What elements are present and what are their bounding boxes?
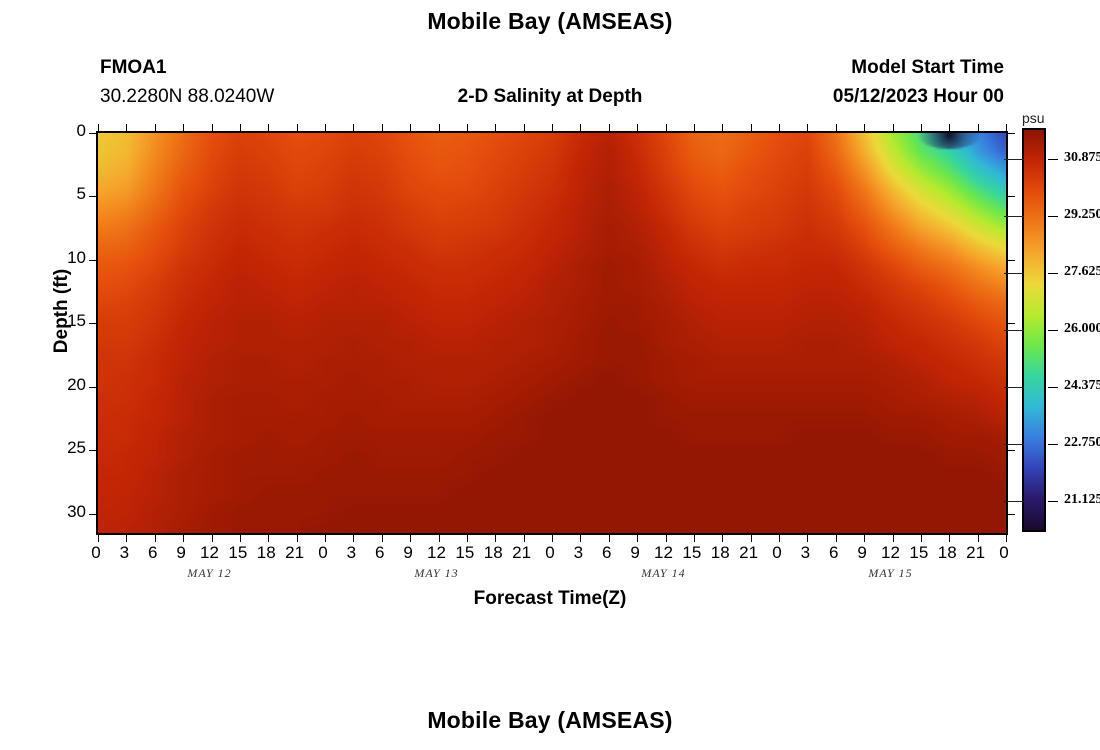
y-tick-mark bbox=[1008, 260, 1015, 261]
y-tick-mark bbox=[89, 387, 96, 388]
y-tick-mark bbox=[89, 323, 96, 324]
model-start-time-value: 05/12/2023 Hour 00 bbox=[833, 86, 1004, 108]
colorbar-tick-inner bbox=[1004, 501, 1024, 502]
x-tick-mark bbox=[694, 535, 695, 542]
page-title: Mobile Bay (AMSEAS) bbox=[0, 8, 1100, 35]
x-tick-mark bbox=[126, 535, 127, 542]
x-tick-mark bbox=[921, 124, 922, 131]
x-tick-mark bbox=[98, 124, 99, 131]
colorbar-tick-inner bbox=[1004, 159, 1024, 160]
x-tick-mark bbox=[637, 535, 638, 542]
y-tick-mark bbox=[1008, 196, 1015, 197]
colorbar-tick-inner bbox=[1004, 330, 1024, 331]
x-tick-mark bbox=[978, 535, 979, 542]
x-tick-mark bbox=[949, 124, 950, 131]
x-day-label: MAY 13 bbox=[392, 566, 482, 581]
x-tick-mark bbox=[382, 535, 383, 542]
x-tick-mark bbox=[126, 124, 127, 131]
x-tick-mark bbox=[779, 124, 780, 131]
footer-title: Mobile Bay (AMSEAS) bbox=[0, 707, 1100, 734]
y-tick-label: 25 bbox=[46, 438, 86, 458]
colorbar-tick-inner bbox=[1004, 444, 1024, 445]
x-tick-mark bbox=[410, 535, 411, 542]
x-tick-mark bbox=[1006, 124, 1007, 131]
x-tick-mark bbox=[524, 124, 525, 131]
x-tick-mark bbox=[637, 124, 638, 131]
x-tick-mark bbox=[467, 535, 468, 542]
y-tick-mark bbox=[1008, 323, 1015, 324]
x-tick-mark bbox=[297, 124, 298, 131]
x-tick-mark bbox=[666, 535, 667, 542]
x-day-label: MAY 12 bbox=[165, 566, 255, 581]
y-tick-mark bbox=[1008, 133, 1015, 134]
colorbar-tick-label: 24.375 bbox=[1064, 378, 1100, 394]
x-tick-mark bbox=[751, 535, 752, 542]
x-tick-label: 0 bbox=[984, 543, 1024, 563]
x-tick-mark bbox=[694, 124, 695, 131]
x-tick-mark bbox=[978, 124, 979, 131]
x-axis-title: Forecast Time(Z) bbox=[0, 588, 1100, 610]
x-tick-mark bbox=[779, 535, 780, 542]
colorbar-tick-mark bbox=[1048, 273, 1058, 274]
x-tick-mark bbox=[382, 124, 383, 131]
y-tick-label: 30 bbox=[46, 502, 86, 522]
y-tick-label: 5 bbox=[46, 184, 86, 204]
colorbar: 30.87529.25027.62526.00024.37522.75021.1… bbox=[1022, 128, 1046, 532]
x-day-label: MAY 15 bbox=[846, 566, 936, 581]
x-tick-mark bbox=[580, 124, 581, 131]
x-tick-mark bbox=[609, 124, 610, 131]
colorbar-tick-mark bbox=[1048, 216, 1058, 217]
x-tick-mark bbox=[297, 535, 298, 542]
x-tick-mark bbox=[467, 124, 468, 131]
x-tick-mark bbox=[495, 124, 496, 131]
y-tick-mark bbox=[89, 514, 96, 515]
x-tick-mark bbox=[722, 535, 723, 542]
colorbar-tick-label: 21.125 bbox=[1064, 492, 1100, 508]
x-tick-mark bbox=[240, 124, 241, 131]
y-tick-label: 0 bbox=[46, 121, 86, 141]
x-tick-mark bbox=[864, 124, 865, 131]
x-day-label: MAY 14 bbox=[619, 566, 709, 581]
x-tick-mark bbox=[439, 124, 440, 131]
x-tick-mark bbox=[268, 535, 269, 542]
colorbar-tick-mark bbox=[1048, 501, 1058, 502]
x-tick-mark bbox=[155, 124, 156, 131]
y-axis-title: Depth (ft) bbox=[51, 231, 73, 391]
x-tick-mark bbox=[495, 535, 496, 542]
y-tick-mark bbox=[1008, 514, 1015, 515]
x-tick-mark bbox=[524, 535, 525, 542]
y-tick-mark bbox=[89, 260, 96, 261]
x-tick-mark bbox=[836, 535, 837, 542]
x-tick-mark bbox=[609, 535, 610, 542]
colorbar-tick-inner bbox=[1004, 387, 1024, 388]
colorbar-units-label: psu bbox=[1022, 110, 1045, 126]
x-tick-mark bbox=[949, 535, 950, 542]
x-tick-mark bbox=[183, 535, 184, 542]
salinity-heatmap-plot bbox=[96, 131, 1008, 535]
x-tick-mark bbox=[722, 124, 723, 131]
colorbar-tick-label: 29.250 bbox=[1064, 207, 1100, 223]
x-tick-mark bbox=[893, 124, 894, 131]
x-tick-mark bbox=[325, 535, 326, 542]
x-tick-mark bbox=[353, 124, 354, 131]
x-tick-mark bbox=[807, 535, 808, 542]
x-tick-mark bbox=[751, 124, 752, 131]
y-tick-mark bbox=[89, 450, 96, 451]
colorbar-tick-mark bbox=[1048, 387, 1058, 388]
x-tick-mark bbox=[836, 124, 837, 131]
colorbar-tick-label: 27.625 bbox=[1064, 264, 1100, 280]
x-tick-mark bbox=[155, 535, 156, 542]
x-tick-mark bbox=[268, 124, 269, 131]
x-tick-mark bbox=[410, 124, 411, 131]
y-tick-mark bbox=[89, 133, 96, 134]
station-id-label: FMOA1 bbox=[100, 57, 167, 79]
x-tick-mark bbox=[580, 535, 581, 542]
x-tick-mark bbox=[183, 124, 184, 131]
x-tick-mark bbox=[98, 535, 99, 542]
colorbar-tick-label: 30.875 bbox=[1064, 150, 1100, 166]
colorbar-tick-mark bbox=[1048, 159, 1058, 160]
y-tick-mark bbox=[89, 196, 96, 197]
heatmap-canvas bbox=[98, 133, 1006, 533]
x-tick-mark bbox=[666, 124, 667, 131]
colorbar-tick-label: 26.000 bbox=[1064, 321, 1100, 337]
colorbar-tick-label: 22.750 bbox=[1064, 435, 1100, 451]
x-tick-mark bbox=[893, 535, 894, 542]
x-tick-mark bbox=[864, 535, 865, 542]
colorbar-tick-inner bbox=[1004, 216, 1024, 217]
x-tick-mark bbox=[240, 535, 241, 542]
colorbar-tick-inner bbox=[1004, 273, 1024, 274]
x-tick-mark bbox=[1006, 535, 1007, 542]
x-tick-mark bbox=[552, 535, 553, 542]
x-tick-mark bbox=[552, 124, 553, 131]
x-tick-mark bbox=[212, 535, 213, 542]
x-tick-mark bbox=[807, 124, 808, 131]
x-tick-mark bbox=[212, 124, 213, 131]
x-tick-mark bbox=[921, 535, 922, 542]
colorbar-tick-mark bbox=[1048, 444, 1058, 445]
y-tick-mark bbox=[1008, 450, 1015, 451]
x-tick-mark bbox=[325, 124, 326, 131]
colorbar-canvas bbox=[1024, 130, 1044, 530]
model-start-time-label: Model Start Time bbox=[851, 57, 1004, 79]
x-tick-mark bbox=[353, 535, 354, 542]
colorbar-tick-mark bbox=[1048, 330, 1058, 331]
x-tick-mark bbox=[439, 535, 440, 542]
